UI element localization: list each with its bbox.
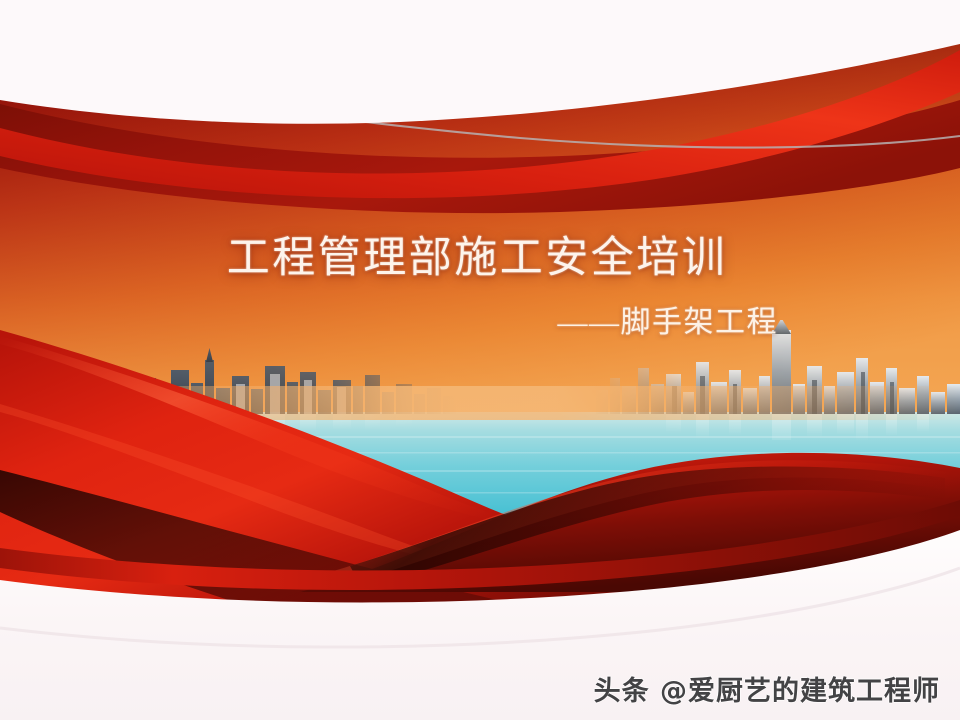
top-white-frame [0, 0, 960, 720]
top-white-area [0, 0, 960, 124]
watermark-attribution: 头条 @爱厨艺的建筑工程师 [594, 669, 940, 708]
title-slide: 工程管理部施工安全培训 ——脚手架工程 头条 @爱厨艺的建筑工程师 [0, 0, 960, 720]
